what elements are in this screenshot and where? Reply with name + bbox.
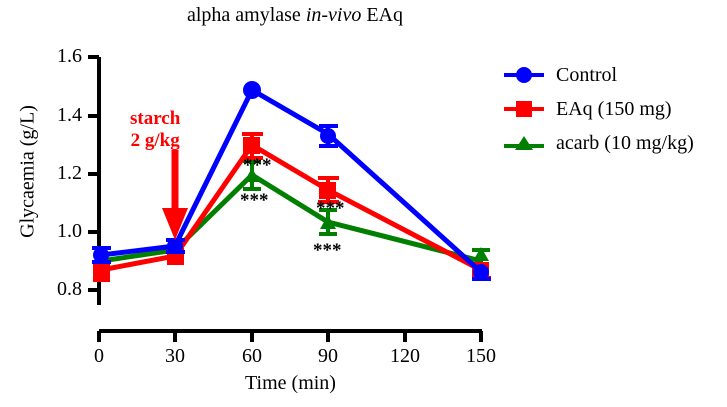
marker-eaq-60: [243, 137, 260, 154]
marker-control-0: [93, 247, 109, 263]
x-axis-title: Time (min): [99, 372, 482, 395]
marker-eaq-0: [93, 262, 110, 279]
y-tick-label-1.4: 1.4: [36, 104, 82, 127]
legend-item-acarb[interactable]: acarb (10 mg/kg): [502, 126, 694, 160]
chart-figure: alpha amylase in-vivo EAq: [0, 0, 727, 407]
significance-marker-eaq-90: ***: [316, 198, 345, 220]
starch-annotation: starch 2 g/kg: [130, 108, 180, 152]
legend-marker-square-icon: [502, 99, 546, 119]
starch-annotation-line2: 2 g/kg: [130, 130, 180, 152]
chart-legend: Control EAq (150 mg) acarb (10 mg/kg): [502, 58, 694, 160]
legend-marker-triangle-icon: [502, 133, 546, 153]
y-axis-title: Glycaemia (g/L): [17, 72, 40, 272]
significance-marker-acarb-60: ***: [240, 190, 269, 212]
x-tick-label-0: 0: [69, 345, 129, 368]
legend-item-control[interactable]: Control: [502, 58, 694, 92]
x-tick-label-90: 90: [298, 345, 358, 368]
marker-control-30: [167, 238, 183, 254]
legend-marker-circle-icon: [502, 65, 546, 85]
legend-label-acarb: acarb (10 mg/kg): [556, 132, 694, 155]
significance-marker-eaq-60: ***: [243, 155, 272, 177]
x-tick-label-60: 60: [222, 345, 282, 368]
legend-label-control: Control: [556, 64, 617, 87]
y-tick-label-1.2: 1.2: [36, 162, 82, 185]
marker-eaq-90: [319, 182, 336, 199]
x-tick-label-150: 150: [451, 345, 511, 368]
starch-annotation-line1: starch: [130, 108, 180, 130]
y-tick-label-0.8: 0.8: [36, 278, 82, 301]
series-eaq: [93, 134, 491, 280]
legend-item-eaq[interactable]: EAq (150 mg): [502, 92, 694, 126]
legend-label-eaq: EAq (150 mg): [556, 98, 672, 121]
x-tick-label-30: 30: [145, 345, 205, 368]
y-tick-label-1.6: 1.6: [36, 45, 82, 68]
marker-control-90: [320, 128, 336, 144]
series-acarb: [93, 161, 490, 268]
marker-control-60: [243, 81, 261, 99]
significance-marker-acarb-90: ***: [313, 240, 342, 262]
y-tick-label-1.0: 1.0: [36, 220, 82, 243]
x-tick-label-120: 120: [375, 345, 435, 368]
marker-control-150: [473, 264, 489, 280]
